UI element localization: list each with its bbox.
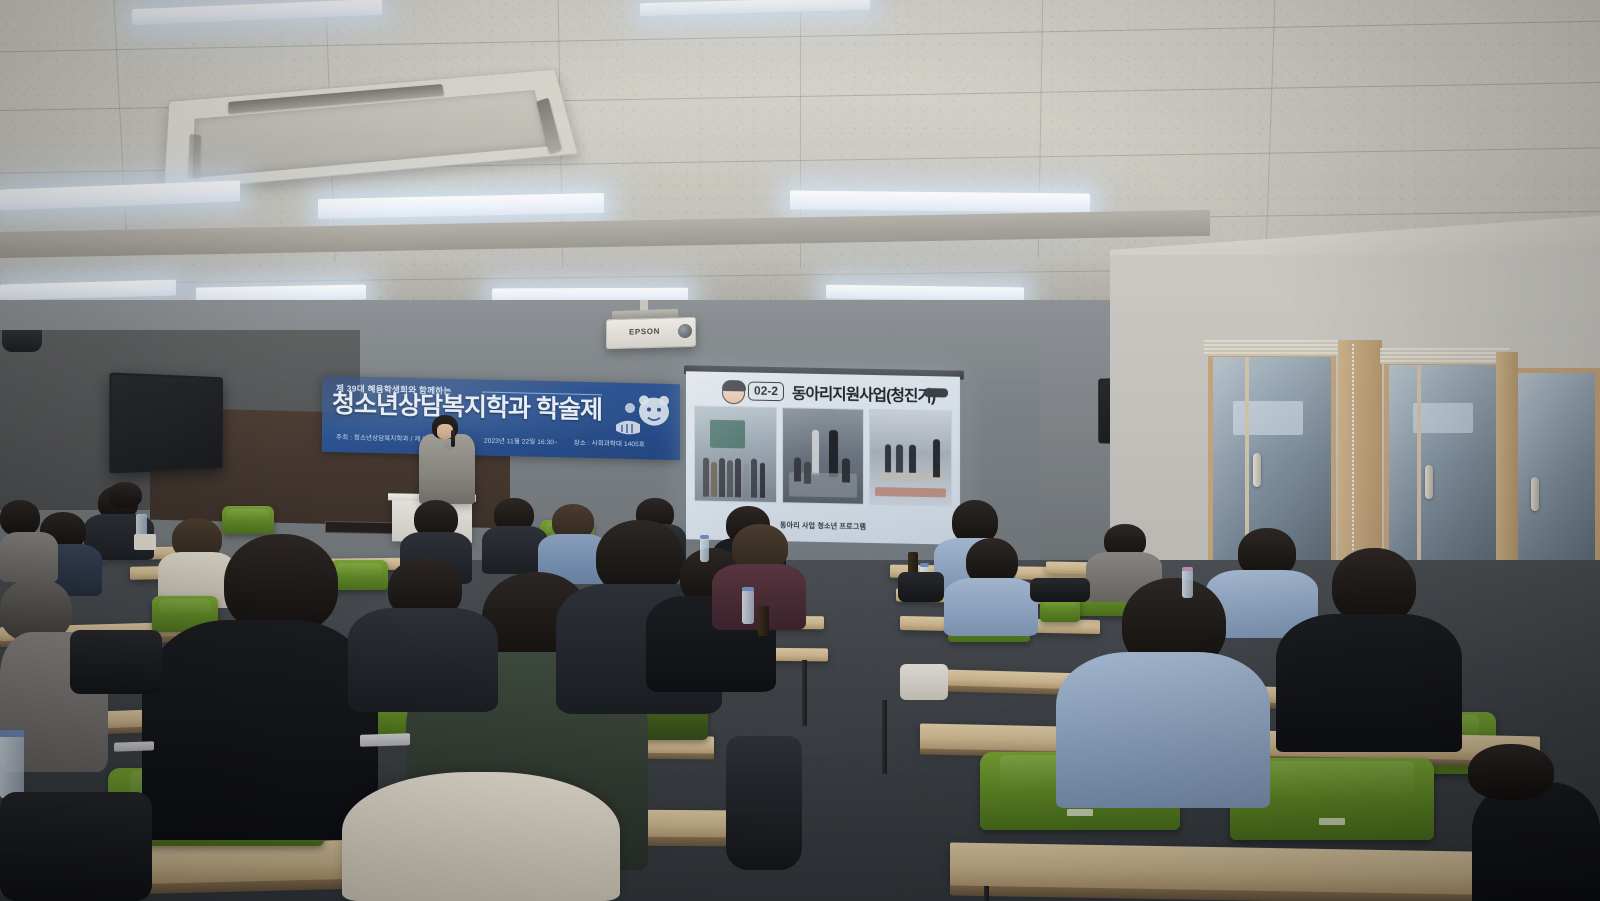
slide-photo-row	[694, 405, 952, 506]
slide-title: 동아리지원사업(청진기)	[792, 381, 935, 406]
person-body	[1056, 652, 1270, 808]
person-head	[1332, 548, 1416, 624]
photo-figure	[896, 444, 902, 472]
ceiling-light-panel	[790, 190, 1090, 212]
person-body	[0, 532, 58, 582]
slide-logo-badge	[924, 388, 948, 397]
window-reflection	[1233, 401, 1303, 435]
bag-on-desk	[0, 792, 152, 901]
character-avatar-icon	[722, 381, 745, 404]
photo-figure	[812, 429, 819, 474]
window-blind[interactable]	[1380, 348, 1510, 364]
tiger-mascot-icon	[606, 390, 676, 454]
photo-figure	[909, 445, 915, 473]
person-head	[0, 500, 40, 536]
water-bottle	[1182, 570, 1193, 598]
photo-figure	[760, 462, 766, 498]
notebook	[114, 741, 154, 751]
photo-table	[875, 487, 946, 498]
ceiling-speaker-left	[2, 330, 42, 352]
ceiling-light-panel	[826, 285, 1024, 302]
window-glass	[1389, 365, 1501, 591]
bottle-cap	[1182, 567, 1193, 571]
window-reflection	[1413, 403, 1473, 433]
photo-figure	[751, 458, 757, 498]
water-bottle	[0, 736, 24, 798]
person-head	[1468, 744, 1554, 800]
window-handle[interactable]	[1531, 477, 1539, 511]
desk-leg	[882, 700, 887, 774]
photo-figure	[933, 439, 939, 477]
bottle-cap	[700, 535, 709, 539]
photo-figure	[719, 458, 725, 498]
wall-monitor-left[interactable]	[109, 372, 223, 473]
person-body	[348, 608, 498, 712]
person-body	[1472, 782, 1600, 901]
slide-photo	[694, 405, 777, 503]
paper-cup	[134, 534, 156, 550]
window-handle[interactable]	[1425, 465, 1433, 499]
person-head	[108, 482, 142, 508]
person-body	[1276, 614, 1462, 752]
photo-figure	[804, 461, 811, 484]
photo-figure	[703, 457, 709, 497]
desk-leg	[984, 886, 989, 901]
coat-on-chair	[900, 664, 948, 700]
photo-figure	[711, 461, 717, 497]
lecture-hall-photo: 제 39대 혜윰학생회와 함께하는 청소년상담복지학과 학술제 주최 : 청소년…	[0, 0, 1600, 901]
microphone	[451, 430, 455, 447]
projector-lens	[678, 324, 692, 338]
person-head	[224, 534, 338, 634]
window-mullion	[1417, 365, 1421, 591]
slide-header: 02-2 동아리지원사업(청진기)	[694, 377, 952, 408]
coat-on-chair	[342, 772, 620, 901]
bottle-cap	[0, 730, 24, 737]
ac-louver	[188, 134, 201, 179]
jacket-on-desk	[1030, 578, 1090, 602]
backpack	[898, 572, 944, 602]
slide-section-number: 02-2	[748, 381, 784, 401]
window-handle[interactable]	[1253, 453, 1261, 487]
water-bottle	[700, 538, 709, 562]
photo-figure	[743, 464, 749, 498]
chair[interactable]	[330, 560, 388, 590]
person-body	[142, 620, 378, 840]
laptop	[360, 733, 410, 747]
chair-manufacturer-label	[1067, 809, 1093, 816]
projector: EPSON	[606, 317, 696, 350]
desk-leg	[802, 660, 807, 726]
slide-photo	[782, 407, 865, 505]
bottle-cap	[920, 563, 929, 567]
photo-figure	[829, 430, 837, 477]
photo-figure	[885, 444, 891, 472]
event-banner: 제 39대 혜윰학생회와 함께하는 청소년상담복지학과 학술제 주최 : 청소년…	[322, 376, 680, 460]
drink-bottle	[758, 606, 769, 636]
window-blind[interactable]	[1204, 340, 1340, 356]
water-bottle	[742, 590, 754, 624]
photo-figure	[727, 460, 733, 498]
person-body	[944, 578, 1038, 636]
chair[interactable]	[222, 506, 274, 534]
photo-figure	[842, 458, 849, 483]
bag-on-desk	[70, 630, 162, 694]
photo-screen-element	[710, 420, 745, 449]
bottle-cap	[742, 587, 754, 591]
photo-figure	[794, 457, 801, 482]
photo-figure	[735, 458, 741, 498]
chair-manufacturer-label	[1319, 818, 1345, 825]
slide-photo	[869, 409, 952, 507]
projector-brand-label: EPSON	[629, 327, 660, 337]
backpack	[726, 736, 802, 870]
